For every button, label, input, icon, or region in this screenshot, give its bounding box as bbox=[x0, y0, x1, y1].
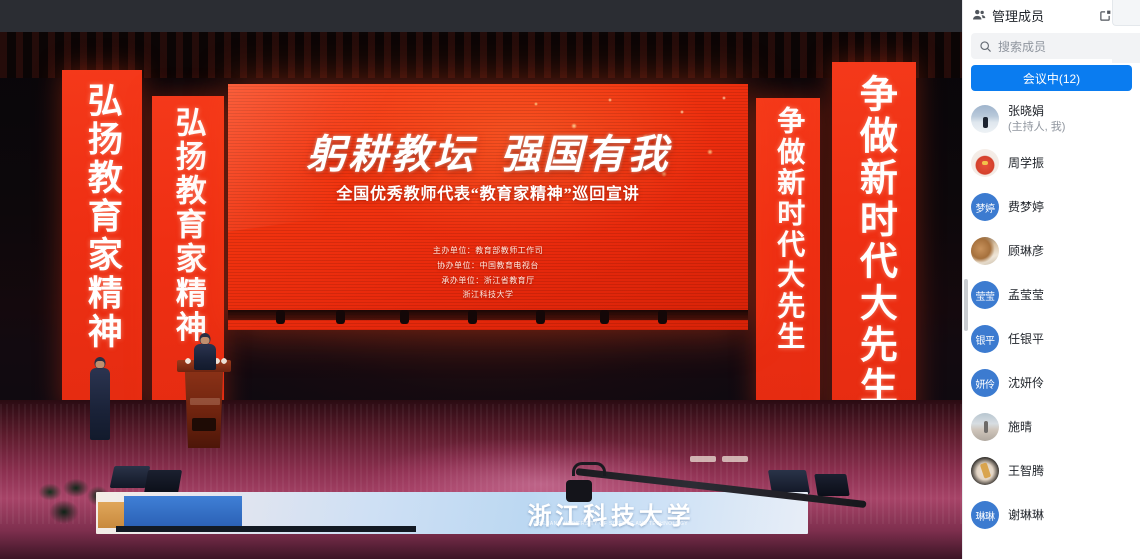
podium-emblem bbox=[192, 418, 216, 431]
led-organizer-line: 浙江科技大学 bbox=[228, 288, 748, 303]
avatar: 莹莹 bbox=[971, 281, 999, 309]
stage-monitor-speaker bbox=[110, 466, 151, 488]
participant-name-block: 沈妍伶 bbox=[1008, 375, 1044, 391]
led-organizer-list: 主办单位：教育部教师工作司 协办单位：中国教育电视台 承办单位：浙江省教育厅 浙… bbox=[228, 244, 748, 303]
camera-jib-hook bbox=[572, 462, 606, 476]
participant-name: 任银平 bbox=[1008, 331, 1044, 347]
strip-blue-block bbox=[124, 496, 242, 526]
participant-name: 周学振 bbox=[1008, 155, 1044, 171]
led-subline: 全国优秀教师代表“教育家精神”巡回宣讲 bbox=[228, 180, 748, 204]
banner-right-inner-text: 争做新时代大先生 bbox=[774, 98, 803, 352]
participant-name-block: 谢琳琳 bbox=[1008, 507, 1044, 523]
person-at-podium bbox=[194, 344, 216, 370]
led-bottom-rail bbox=[228, 310, 748, 320]
participant-name: 沈妍伶 bbox=[1008, 375, 1044, 391]
rail-bolt bbox=[276, 310, 285, 324]
participant-name-block: 顾琳彦 bbox=[1008, 243, 1044, 259]
meeting-window: 弘扬教育家精神 弘扬教育家精神 争做新时代大先生 争做新时代大先生 躬耕教坛 强… bbox=[0, 0, 1140, 559]
stage-monitor-speaker bbox=[144, 470, 182, 494]
led-organizer-line: 协办单位：中国教育电视台 bbox=[228, 259, 748, 274]
led-organizer-line: 承办单位：浙江省教育厅 bbox=[228, 274, 748, 289]
participant-name-block: 任银平 bbox=[1008, 331, 1044, 347]
strip-accent-block bbox=[98, 502, 124, 528]
participant-row[interactable]: 莹莹孟莹莹 bbox=[963, 273, 1140, 317]
led-organizer-line: 主办单位：教育部教师工作司 bbox=[228, 244, 748, 259]
rail-bolt bbox=[400, 310, 409, 324]
tab-row: 会议中(12) bbox=[963, 63, 1140, 97]
person-face bbox=[96, 361, 105, 368]
led-headline: 躬耕教坛 强国有我 bbox=[228, 122, 748, 180]
participant-row[interactable]: 王智腾 bbox=[963, 449, 1140, 493]
shared-video-stage[interactable]: 弘扬教育家精神 弘扬教育家精神 争做新时代大先生 争做新时代大先生 躬耕教坛 强… bbox=[0, 0, 962, 559]
participant-row[interactable]: 周学振 bbox=[963, 141, 1140, 185]
popout-icon[interactable] bbox=[1097, 7, 1113, 23]
avatar bbox=[971, 237, 999, 265]
avatar bbox=[971, 413, 999, 441]
podium-nameplate bbox=[190, 398, 220, 405]
participant-row[interactable]: 施晴 bbox=[963, 405, 1140, 449]
participant-name-block: 周学振 bbox=[1008, 155, 1044, 171]
banner-right-inner: 争做新时代大先生 bbox=[756, 98, 820, 414]
rail-bolt bbox=[468, 310, 477, 324]
avatar bbox=[971, 457, 999, 485]
participant-row[interactable]: 银平任银平 bbox=[963, 317, 1140, 361]
participants-panel: 管理成员 bbox=[962, 0, 1140, 559]
avatar: 妍伶 bbox=[971, 369, 999, 397]
rail-bolt bbox=[536, 310, 545, 324]
strip-dark-edge bbox=[116, 526, 416, 532]
camera-head bbox=[566, 480, 592, 502]
stage-strip-subtitle: ZHEJIANG UNIVERSITY OF SCIENCE AND TECHN… bbox=[426, 521, 796, 527]
participant-row[interactable]: 顾琳彦 bbox=[963, 229, 1140, 273]
participant-name-block: 费梦婷 bbox=[1008, 199, 1044, 215]
participant-name: 费梦婷 bbox=[1008, 199, 1044, 215]
participant-name-block: 张晓娟(主持人, 我) bbox=[1008, 103, 1065, 134]
participant-row[interactable]: 妍伶沈妍伶 bbox=[963, 361, 1140, 405]
podium bbox=[183, 366, 225, 448]
participant-role: (主持人, 我) bbox=[1008, 120, 1065, 135]
participant-row[interactable]: 梦婷费梦婷 bbox=[963, 185, 1140, 229]
video-letterbox-top bbox=[0, 0, 962, 32]
avatar bbox=[971, 149, 999, 177]
banner-right-outer-text: 争做新时代大先生 bbox=[855, 62, 894, 408]
participant-name-block: 孟莹莹 bbox=[1008, 287, 1044, 303]
avatar bbox=[971, 105, 999, 133]
rail-bolt bbox=[336, 310, 345, 324]
participant-name: 谢琳琳 bbox=[1008, 507, 1044, 523]
participant-name: 王智腾 bbox=[1008, 463, 1044, 479]
rail-bolt bbox=[600, 310, 609, 324]
participant-name: 孟莹莹 bbox=[1008, 287, 1044, 303]
banner-left-inner-text: 弘扬教育家精神 bbox=[172, 96, 204, 345]
stage-front-led-strip: 浙江科技大学 ZHEJIANG UNIVERSITY OF SCIENCE AN… bbox=[96, 492, 808, 534]
search-placeholder: 搜索成员 bbox=[998, 38, 1046, 55]
participant-list[interactable]: 张晓娟(主持人, 我)周学振梦婷费梦婷顾琳彦莹莹孟莹莹银平任银平妍伶沈妍伶施晴王… bbox=[963, 97, 1140, 559]
rail-bolt bbox=[658, 310, 667, 324]
avatar: 琳琳 bbox=[971, 501, 999, 529]
stage-floor-light bbox=[722, 456, 748, 462]
search-input[interactable]: 搜索成员 bbox=[971, 33, 1132, 59]
led-backdrop-screen: 躬耕教坛 强国有我 全国优秀教师代表“教育家精神”巡回宣讲 主办单位：教育部教师… bbox=[228, 84, 748, 330]
person-face bbox=[201, 337, 210, 344]
tab-in-meeting[interactable]: 会议中(12) bbox=[971, 65, 1132, 91]
stage-monitor-speaker bbox=[814, 474, 849, 496]
panel-edge-band bbox=[1112, 33, 1140, 63]
participant-row[interactable]: 琳琳谢琳琳 bbox=[963, 493, 1140, 537]
participant-list-scrollbar[interactable] bbox=[964, 279, 968, 331]
avatar: 梦婷 bbox=[971, 193, 999, 221]
stage-floor-light bbox=[690, 456, 716, 462]
search-icon bbox=[979, 40, 992, 53]
panel-edge-tab bbox=[1112, 0, 1140, 26]
participant-name: 张晓娟 bbox=[1008, 103, 1065, 119]
avatar: 银平 bbox=[971, 325, 999, 353]
banner-right-outer: 争做新时代大先生 bbox=[832, 62, 916, 440]
participant-row[interactable]: 张晓娟(主持人, 我) bbox=[963, 97, 1140, 141]
participant-name-block: 施晴 bbox=[1008, 419, 1032, 435]
banner-left-outer-text: 弘扬教育家精神 bbox=[84, 70, 120, 352]
participant-name: 施晴 bbox=[1008, 419, 1032, 435]
participant-name: 顾琳彦 bbox=[1008, 243, 1044, 259]
panel-title: 管理成员 bbox=[992, 6, 1044, 25]
people-icon bbox=[971, 7, 987, 23]
person-standing-left bbox=[90, 368, 110, 440]
participant-name-block: 王智腾 bbox=[1008, 463, 1044, 479]
